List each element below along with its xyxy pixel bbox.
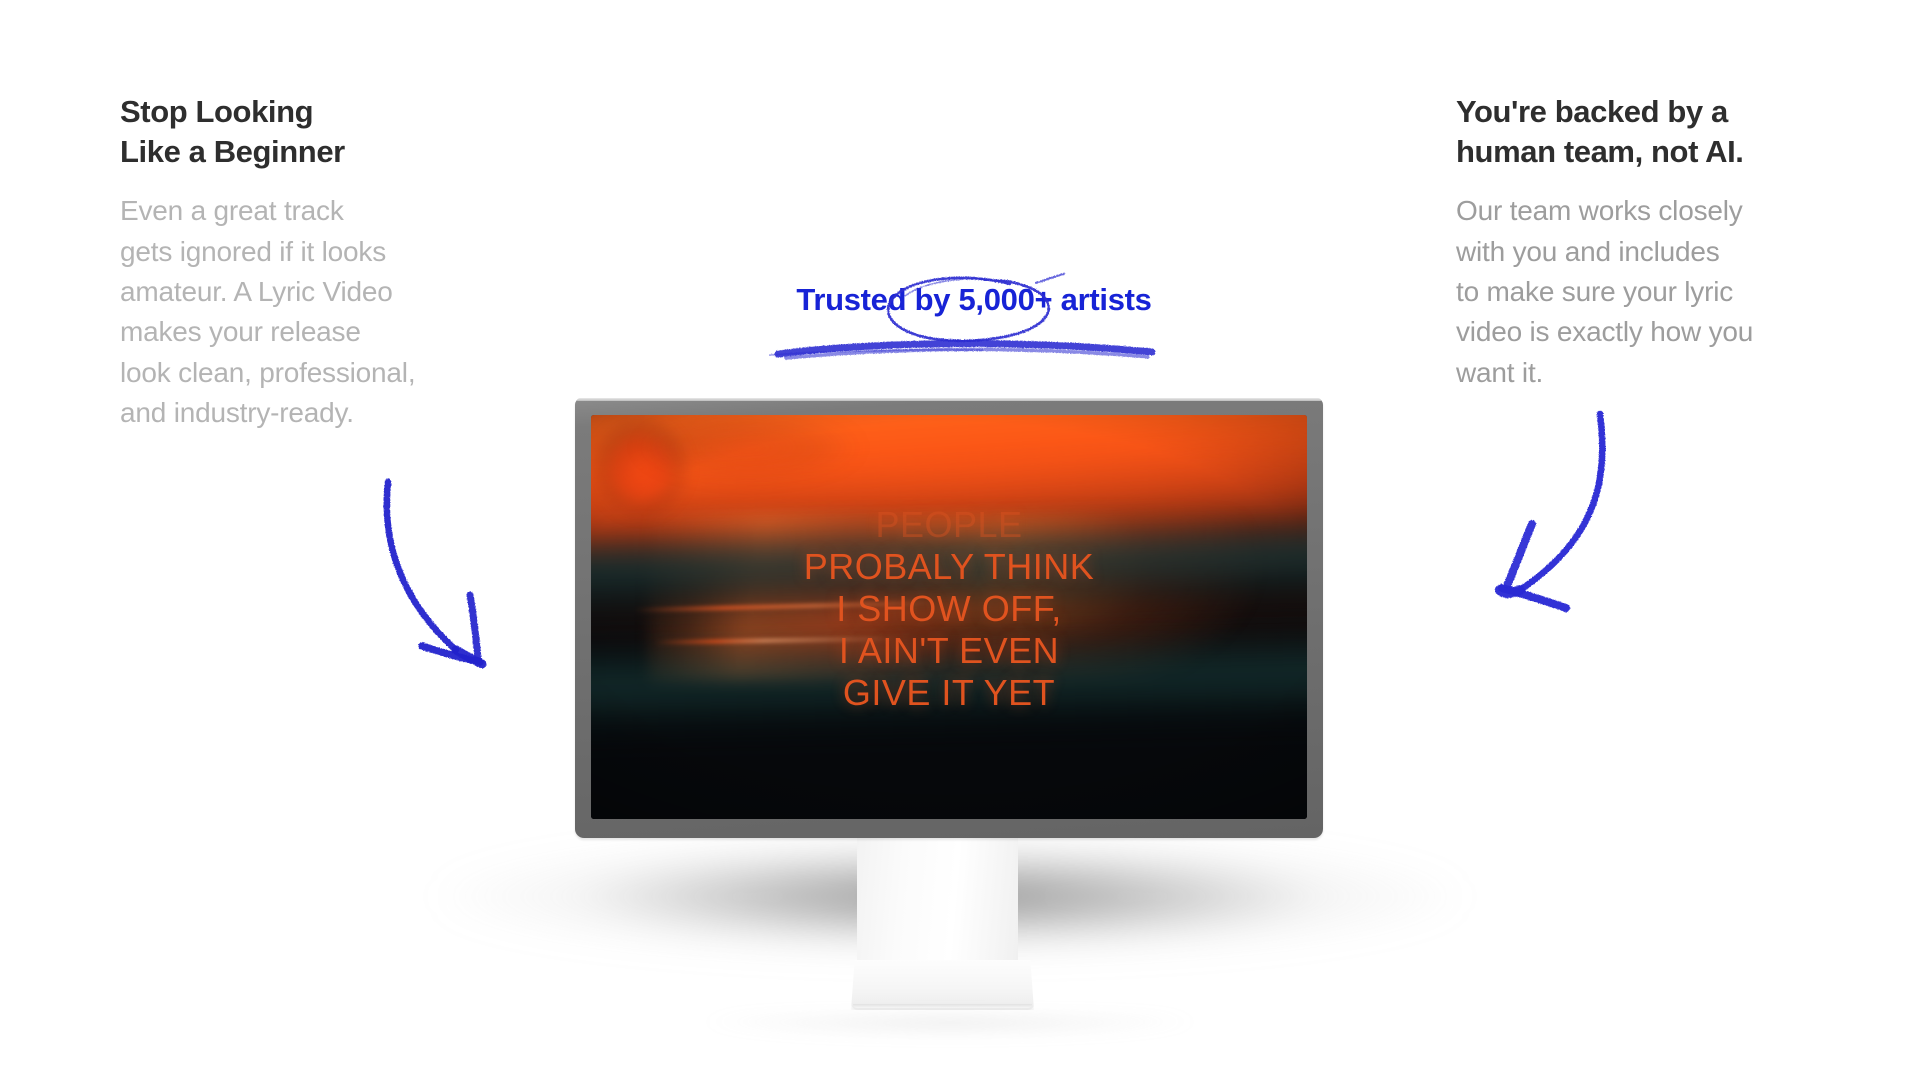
monitor-stand-base-edge	[853, 1004, 1032, 1008]
lyric-line-1: PROBALY THINK	[591, 546, 1307, 588]
trusted-headline: Trusted by 5,000+ artists	[774, 282, 1174, 318]
page-canvas: Stop Looking Like a Beginner Even a grea…	[0, 0, 1920, 1080]
right-feature-body: Our team works closely with you and incl…	[1456, 191, 1826, 393]
monitor-stand-base	[851, 960, 1034, 1010]
lyric-line-2: I SHOW OFF,	[591, 588, 1307, 630]
lyric-line-0: PEOPLE	[591, 504, 1307, 546]
curved-arrow-down-left-icon	[1448, 398, 1638, 638]
left-feature-title: Stop Looking Like a Beginner	[120, 92, 500, 171]
lyric-overlay: PEOPLEPROBALY THINKI SHOW OFF,I AIN'T EV…	[591, 504, 1307, 715]
monitor-mockup: PEOPLEPROBALY THINKI SHOW OFF,I AIN'T EV…	[575, 398, 1323, 838]
curved-arrow-down-right-icon	[370, 468, 540, 698]
trusted-badge: Trusted by 5,000+ artists	[760, 262, 1180, 372]
lyric-line-3: I AIN'T EVEN	[591, 630, 1307, 672]
feature-block-right: You're backed by a human team, not AI. O…	[1456, 92, 1826, 393]
left-feature-body: Even a great track gets ignored if it lo…	[120, 191, 500, 433]
lyric-line-4: GIVE IT YET	[591, 672, 1307, 714]
right-feature-title: You're backed by a human team, not AI.	[1456, 92, 1826, 171]
floor-reflection	[700, 1014, 1200, 1040]
feature-block-left: Stop Looking Like a Beginner Even a grea…	[120, 92, 500, 433]
monitor-stand-neck	[857, 835, 1018, 969]
monitor-screen[interactable]: PEOPLEPROBALY THINKI SHOW OFF,I AIN'T EV…	[591, 415, 1307, 819]
